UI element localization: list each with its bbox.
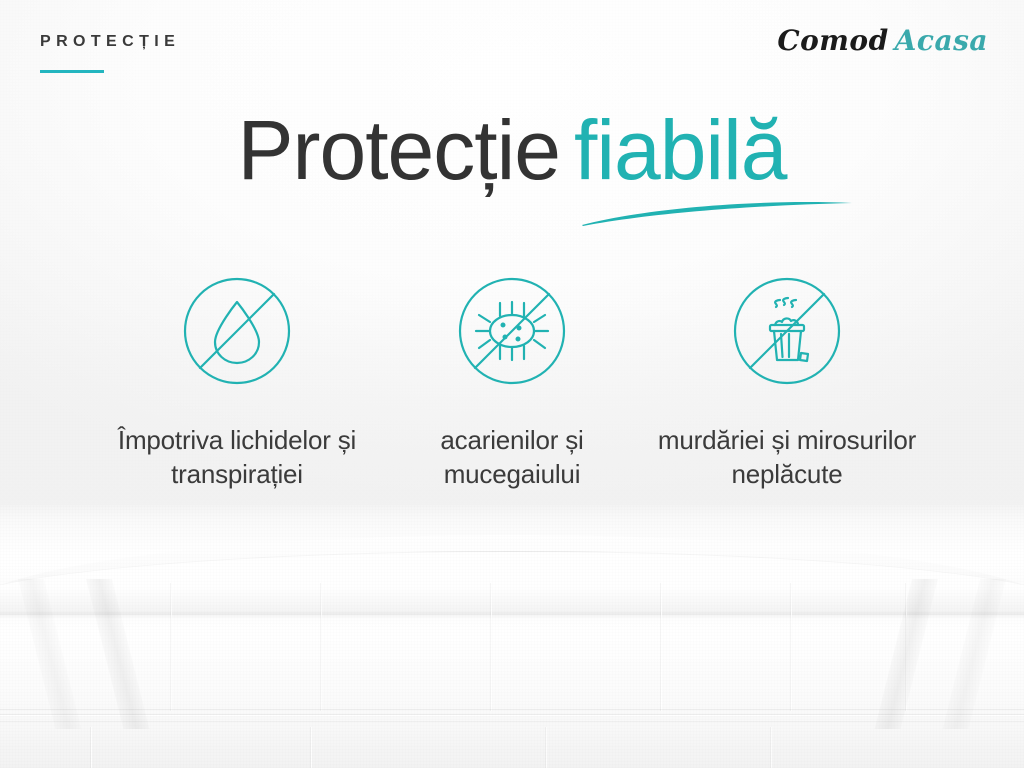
feature-item-mites: acarienilor și mucegaiului [375, 275, 650, 492]
no-odor-trash-icon [731, 275, 843, 387]
brand-logo-primary: Comod [777, 24, 888, 57]
feature-list: Împotriva lichidelor și transpirației [0, 275, 1024, 492]
no-liquid-droplet-icon [181, 275, 293, 387]
feature-caption: acarienilor și mucegaiului [382, 423, 642, 492]
feature-item-liquids: Împotriva lichidelor și transpirației [100, 275, 375, 492]
eyebrow-label: PROTECȚIE [40, 33, 180, 51]
brand-logo-secondary: Acasa [895, 24, 988, 57]
eyebrow-underline-rule [40, 70, 104, 73]
promo-slide: PROTECȚIE ComodAcasa Protecțiefiabilă Îm… [0, 0, 1024, 768]
page-title-dark: Protecție [238, 103, 561, 197]
title-swoosh-underline [578, 192, 858, 228]
brand-logo: ComodAcasa [777, 24, 988, 57]
page-title: Protecțiefiabilă [0, 108, 1024, 192]
mattress-protector-photo [0, 505, 1024, 768]
feature-item-odors: murdăriei și mirosurilor neplăcute [650, 275, 925, 492]
feature-caption: Împotriva lichidelor și transpirației [107, 423, 367, 492]
mattress-fabric-texture [0, 505, 1024, 768]
feature-caption: murdăriei și mirosurilor neplăcute [657, 423, 917, 492]
page-title-accent: fiabilă [574, 103, 786, 197]
no-dust-mite-icon [456, 275, 568, 387]
